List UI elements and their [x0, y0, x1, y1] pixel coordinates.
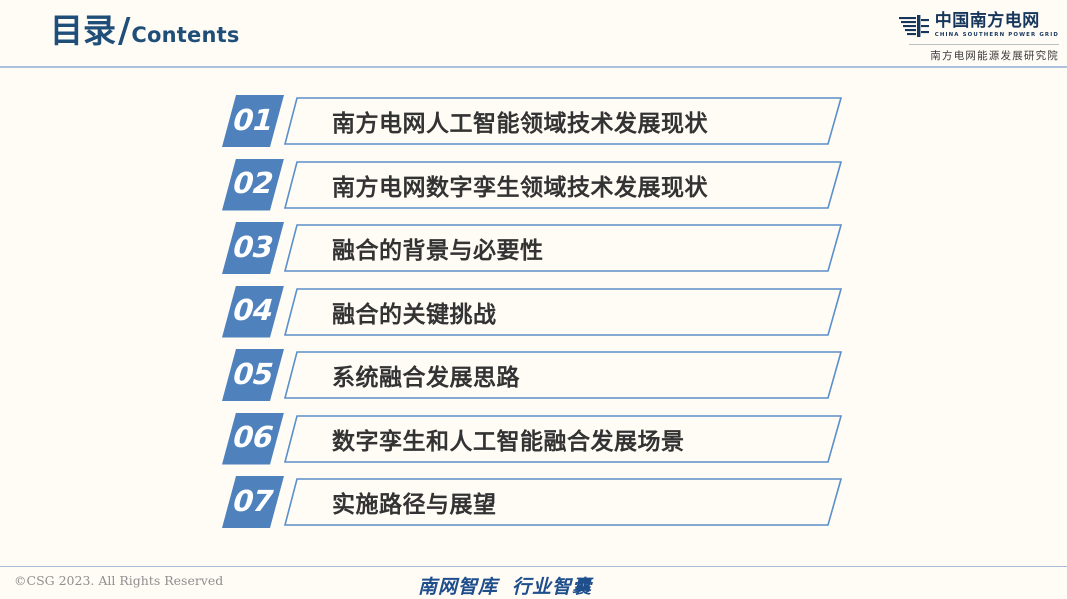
page-title: 目录 / Contents: [50, 14, 240, 48]
page-title-separator: /: [118, 14, 130, 48]
contents-item-02[interactable]: 02南方电网数字孪生领域技术发展现状: [222, 159, 842, 211]
footer-divider: [0, 566, 1067, 567]
contents-item-06[interactable]: 06数字孪生和人工智能融合发展场景: [222, 413, 842, 465]
brand-logo: 中国南方电网 CHINA SOUTHERN POWER GRID 南方电网能源发…: [863, 11, 1059, 63]
contents-item-number-badge: 05: [222, 349, 284, 401]
contents-item-number: 05: [229, 360, 277, 391]
contents-item-number-badge: 06: [222, 413, 284, 465]
csg-grid-logo-icon: [899, 14, 929, 38]
contents-item-number-badge: 04: [222, 286, 284, 338]
contents-item-number-badge: 07: [222, 476, 284, 528]
brand-name-en: CHINA SOUTHERN POWER GRID: [935, 32, 1059, 39]
contents-item-number: 01: [229, 106, 277, 137]
contents-item-number: 07: [229, 487, 277, 518]
slide-canvas: 目录 / Contents 中国南方电网 CHI: [0, 0, 1067, 599]
footer-slogan-left: 南网智库: [418, 576, 498, 598]
page-title-en: Contents: [131, 25, 239, 46]
contents-item-label: 融合的背景与必要性: [332, 224, 544, 272]
contents-item-label: 南方电网数字孪生领域技术发展现状: [332, 161, 708, 209]
slide-header: 目录 / Contents 中国南方电网 CHI: [0, 0, 1067, 68]
institute-name: 南方电网能源发展研究院: [863, 48, 1059, 63]
copyright-text: ©CSG 2023. All Rights Reserved: [14, 573, 223, 588]
footer-slogan-right: 行业智囊: [512, 576, 592, 598]
contents-item-number: 03: [229, 233, 277, 264]
contents-item-05[interactable]: 05系统融合发展思路: [222, 349, 842, 401]
footer-slogan: 南网智库行业智囊: [418, 572, 592, 599]
contents-list: 01南方电网人工智能领域技术发展现状02南方电网数字孪生领域技术发展现状03融合…: [0, 95, 1067, 540]
brand-logo-text: 中国南方电网 CHINA SOUTHERN POWER GRID: [935, 13, 1059, 39]
contents-item-label: 南方电网人工智能领域技术发展现状: [332, 97, 708, 145]
contents-item-03[interactable]: 03融合的背景与必要性: [222, 222, 842, 274]
contents-item-label: 数字孪生和人工智能融合发展场景: [332, 415, 685, 463]
header-divider: [0, 66, 1067, 68]
contents-item-07[interactable]: 07实施路径与展望: [222, 476, 842, 528]
contents-item-number-badge: 01: [222, 95, 284, 147]
contents-item-label: 融合的关键挑战: [332, 288, 497, 336]
logo-divider: [909, 44, 1059, 45]
contents-item-number-badge: 03: [222, 222, 284, 274]
contents-item-number: 04: [229, 296, 277, 327]
page-title-cn: 目录: [50, 14, 116, 47]
brand-logo-primary: 中国南方电网 CHINA SOUTHERN POWER GRID: [863, 11, 1059, 41]
contents-item-01[interactable]: 01南方电网人工智能领域技术发展现状: [222, 95, 842, 147]
contents-item-label: 实施路径与展望: [332, 478, 497, 526]
contents-item-number: 02: [229, 169, 277, 200]
contents-item-label: 系统融合发展思路: [332, 351, 520, 399]
brand-name-cn: 中国南方电网: [935, 13, 1040, 31]
contents-item-04[interactable]: 04融合的关键挑战: [222, 286, 842, 338]
contents-item-number: 06: [229, 423, 277, 454]
contents-item-number-badge: 02: [222, 159, 284, 211]
